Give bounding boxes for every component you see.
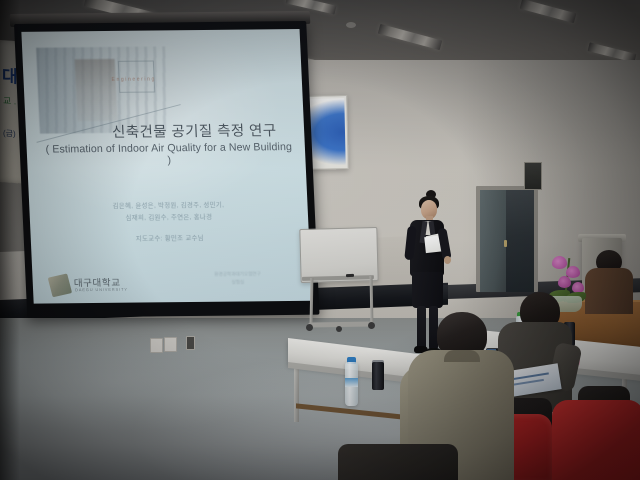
lecture-hall-photo: 대 교 . (금) 발표회 표회 구대학교 환경공학과 Engineering … (0, 0, 640, 480)
vignette-overlay (0, 0, 640, 480)
left-edge-shadow (0, 0, 20, 480)
